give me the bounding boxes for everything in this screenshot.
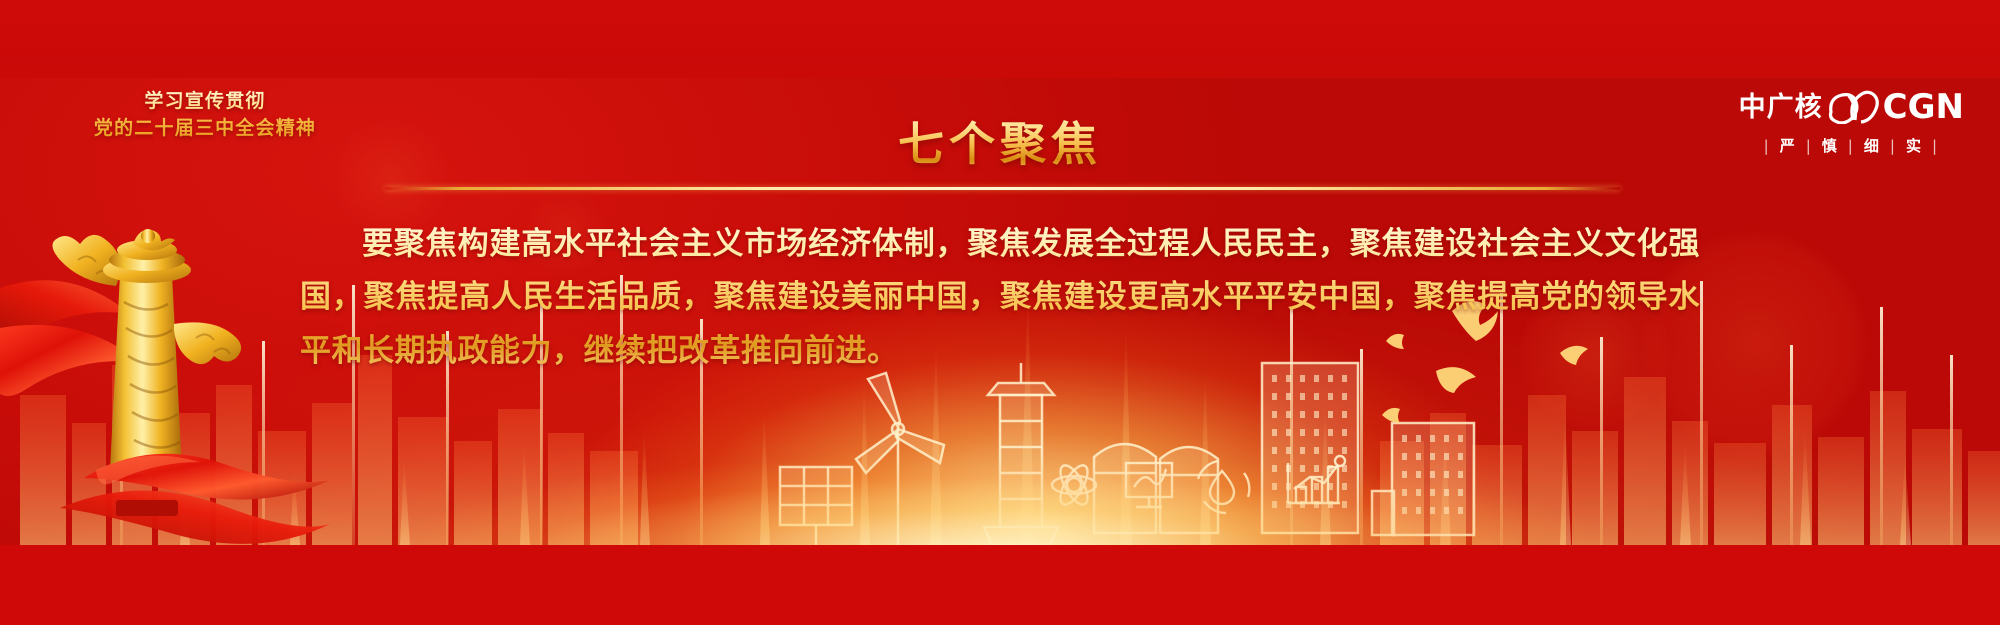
body-text: 要聚焦构建高水平社会主义市场经济体制，聚焦发展全过程人民民主，聚焦建设社会主义文… [300,218,1700,378]
top-band [0,0,2000,78]
banner-artwork: 学习宣传贯彻 党的二十届三中全会精神 中广核 CGN | 严 | [0,78,2000,545]
body-paragraph: 要聚焦构建高水平社会主义市场经济体制，聚焦发展全过程人民民主，聚焦建设社会主义文… [300,218,1700,378]
banner-poster: 学习宣传贯彻 党的二十届三中全会精神 中广核 CGN | 严 | [0,0,2000,625]
bottom-band [0,545,2000,625]
huabiao-ornament-decor [0,178,330,545]
page-title: 七个聚焦 [0,108,2000,174]
gold-divider [385,187,1620,190]
